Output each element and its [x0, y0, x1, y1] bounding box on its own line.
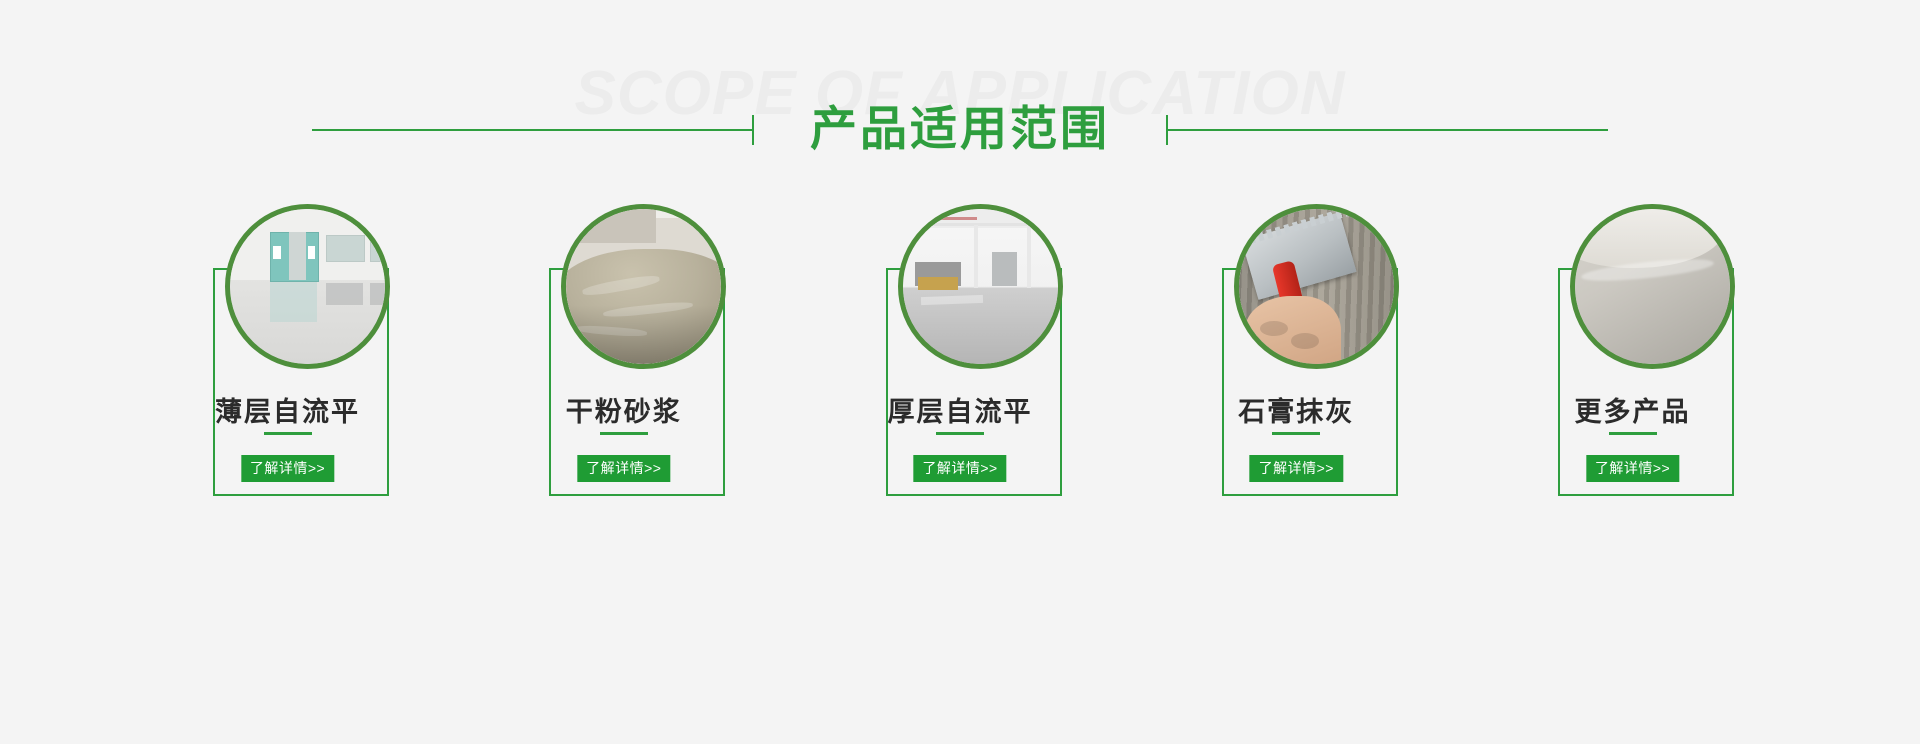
card-label-underline: [1272, 432, 1320, 435]
product-card-thick-self-leveling[interactable]: 厚层自流平 了解详情>>: [858, 200, 1063, 500]
product-card-gypsum-plaster[interactable]: 石膏抹灰 了解详情>>: [1194, 200, 1399, 500]
glossy-floor-closeup-photo: [1575, 209, 1730, 364]
title-row: 产品适用范围: [0, 96, 1920, 164]
card-label-underline: [264, 432, 312, 435]
dry-mortar-powder-photo: [566, 209, 721, 364]
card-image-circle: [1234, 204, 1399, 369]
warehouse-floor-photo: [903, 209, 1058, 364]
card-image-circle: [1570, 204, 1735, 369]
learn-more-button[interactable]: 了解详情>>: [1586, 455, 1679, 482]
card-label-underline: [936, 432, 984, 435]
title-rule-right: [1168, 129, 1608, 131]
card-image-circle: [561, 204, 726, 369]
title-rule-left: [312, 129, 752, 131]
card-label: 石膏抹灰: [1194, 390, 1399, 429]
title-tick-left: [752, 115, 754, 145]
card-label: 薄层自流平: [185, 390, 390, 429]
learn-more-button[interactable]: 了解详情>>: [1250, 455, 1343, 482]
epoxy-floor-room-photo: [230, 209, 385, 364]
card-label-underline: [1609, 432, 1657, 435]
card-label: 厚层自流平: [858, 390, 1063, 429]
learn-more-button[interactable]: 了解详情>>: [913, 455, 1006, 482]
card-label-underline: [600, 432, 648, 435]
card-image-circle: [898, 204, 1063, 369]
notched-trowel-in-hand-photo: [1239, 209, 1394, 364]
product-card-list: 薄层自流平 了解详情>> 干粉砂浆 了解详情>>: [185, 200, 1735, 530]
learn-more-button[interactable]: 了解详情>>: [241, 455, 334, 482]
product-card-thin-self-leveling[interactable]: 薄层自流平 了解详情>>: [185, 200, 390, 500]
card-label: 更多产品: [1530, 390, 1735, 429]
learn-more-button[interactable]: 了解详情>>: [577, 455, 670, 482]
card-label: 干粉砂浆: [521, 390, 726, 429]
product-card-more-products[interactable]: 更多产品 了解详情>>: [1530, 200, 1735, 500]
section-header: SCOPE OF APPLICATION 产品适用范围: [0, 0, 1920, 200]
card-image-circle: [225, 204, 390, 369]
product-card-dry-mortar[interactable]: 干粉砂浆 了解详情>>: [521, 200, 726, 500]
page-title: 产品适用范围: [810, 105, 1110, 156]
